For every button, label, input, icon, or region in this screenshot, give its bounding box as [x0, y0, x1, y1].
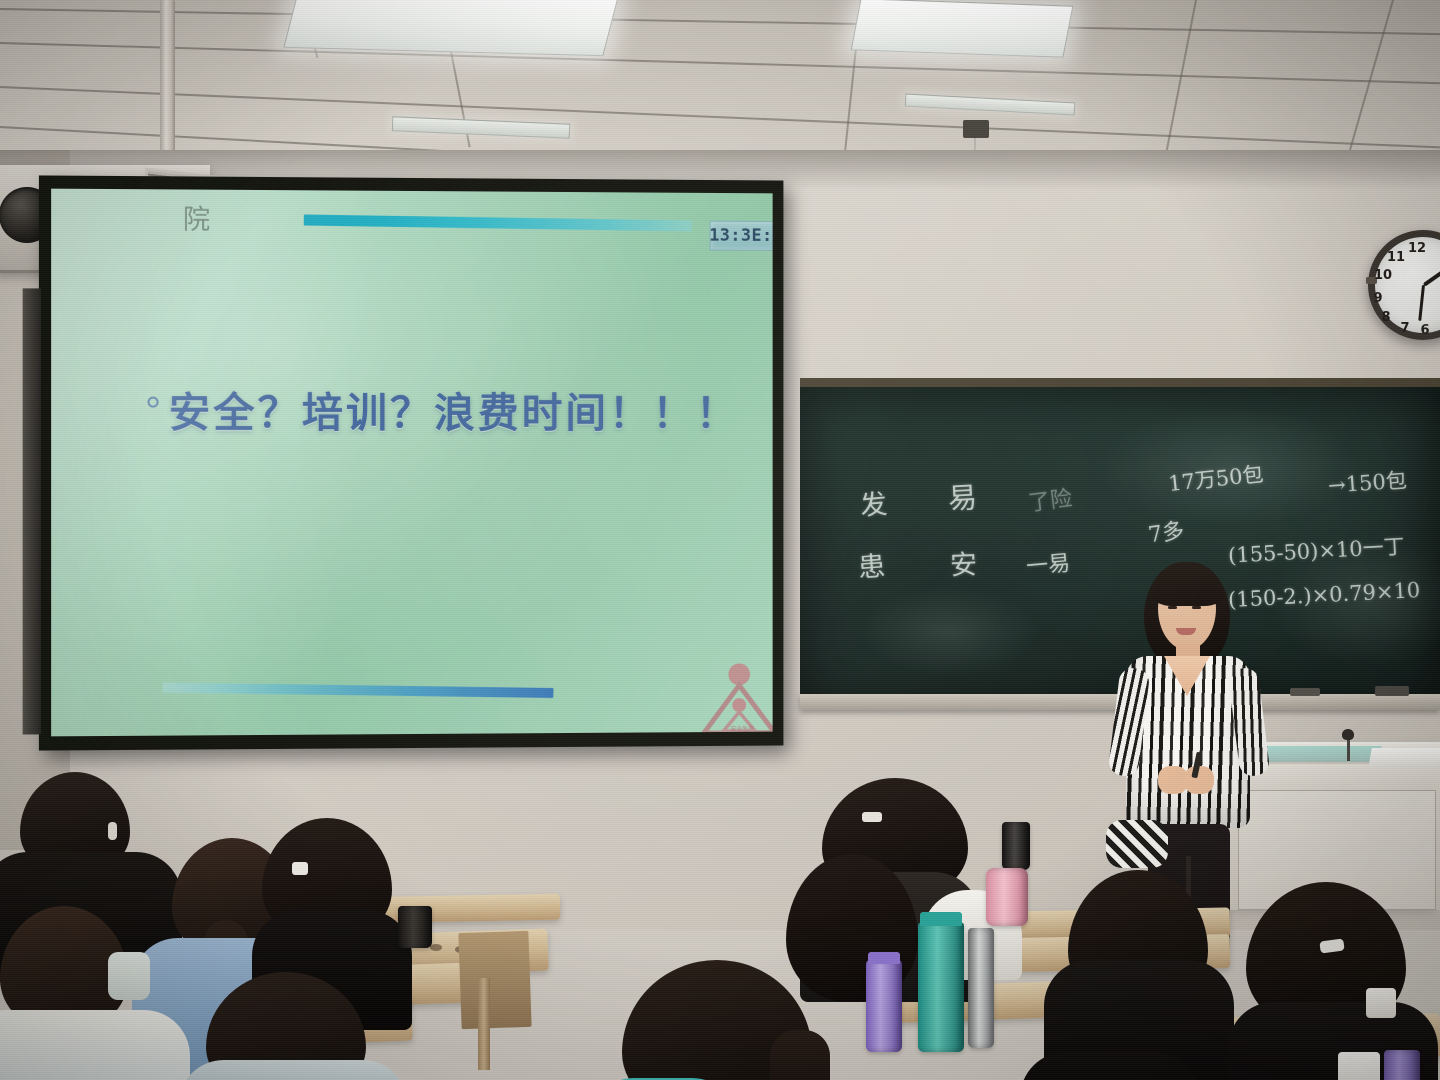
ceiling-light-fixture [851, 0, 1074, 58]
chalk-note: 发 [858, 482, 888, 523]
clock-number: 10 [1374, 268, 1390, 283]
white-cup [1338, 1052, 1380, 1080]
desk-hole [430, 944, 442, 951]
hair-clip-icon [292, 862, 308, 875]
slide-top-accent-bar [304, 214, 692, 231]
water-bottle-teal [918, 922, 964, 1052]
logo-caption-line2: 职业健康培训中心 [700, 734, 773, 737]
water-bottle-violet [1384, 1050, 1420, 1080]
slide-header-text: 院 [183, 198, 224, 237]
ceiling-light-fixture [283, 0, 618, 56]
tumbler-black [1002, 822, 1030, 870]
ceiling-speaker-icon [963, 120, 989, 138]
slide-content: 安全？培训？浪费时间！！！ [147, 378, 746, 439]
clock-hour-hand [1423, 268, 1440, 286]
student-body [0, 1010, 190, 1080]
bottle-cap [920, 912, 962, 926]
eye [1192, 606, 1201, 609]
white-cup [1366, 988, 1396, 1018]
ceiling-light-fixture [905, 94, 1075, 116]
chalk-note: 易 [947, 474, 978, 517]
clock-number: 11 [1387, 250, 1403, 265]
timer-value: 13:3E:25 [711, 222, 773, 250]
slide-timer-widget: 13:3E:25 [710, 221, 773, 251]
student-body [1020, 1052, 1200, 1080]
clock-number: 7 [1397, 321, 1413, 336]
audience-area [0, 760, 1440, 1080]
presentation-slide: 院 13:3E:25 安全？培训？浪费时间！！！ 安全生产 职业健康培训中心 [51, 189, 773, 737]
ceiling-light-fixture [392, 116, 570, 138]
microphone-icon [1342, 729, 1354, 740]
clock-number: 6 [1417, 323, 1433, 338]
earphone-icon [108, 822, 117, 840]
projection-screen: 院 13:3E:25 安全？培训？浪费时间！！！ 安全生产 职业健康培训中心 [39, 175, 784, 750]
slide-bottom-accent-bar [163, 683, 554, 698]
student-body [178, 1060, 408, 1080]
desk-leg [478, 978, 490, 1070]
scrunchie-icon [1106, 820, 1168, 868]
clock-minute-hand [1418, 285, 1425, 321]
logo-caption-line1: 安全生产 [700, 725, 773, 734]
mask [108, 952, 150, 1000]
desk-side-panel [458, 931, 531, 1029]
water-bottle-grey [968, 928, 994, 1048]
bullet-icon [147, 396, 158, 407]
classroom-photo: 院 13:3E:25 安全？培训？浪费时间！！！ 安全生产 职业健康培训中心 [0, 0, 1440, 1080]
clock-number: 8 [1378, 310, 1394, 325]
board-eraser [1290, 688, 1320, 696]
chalk-note: 患 [857, 544, 887, 585]
hair-clip-icon [862, 812, 882, 822]
chalk-note: 一易 [1025, 545, 1072, 581]
board-eraser [1375, 686, 1409, 696]
water-bottle-pink [986, 868, 1028, 926]
clock-number: 12 [1408, 241, 1424, 256]
chalk-note: 了险 [1026, 480, 1074, 517]
slide-bullet-text: 安全？培训？浪费时间！！！ [169, 379, 739, 440]
bottle-cap [868, 952, 900, 964]
tumbler [398, 906, 432, 948]
ponytail [770, 1030, 830, 1080]
eye [1168, 606, 1177, 609]
water-bottle-purple [866, 960, 902, 1052]
screen-glare [51, 189, 550, 737]
clock-number: 9 [1370, 291, 1386, 306]
chalk-note: 安 [949, 543, 977, 583]
logo-caption: 安全生产 职业健康培训中心 [700, 725, 773, 737]
